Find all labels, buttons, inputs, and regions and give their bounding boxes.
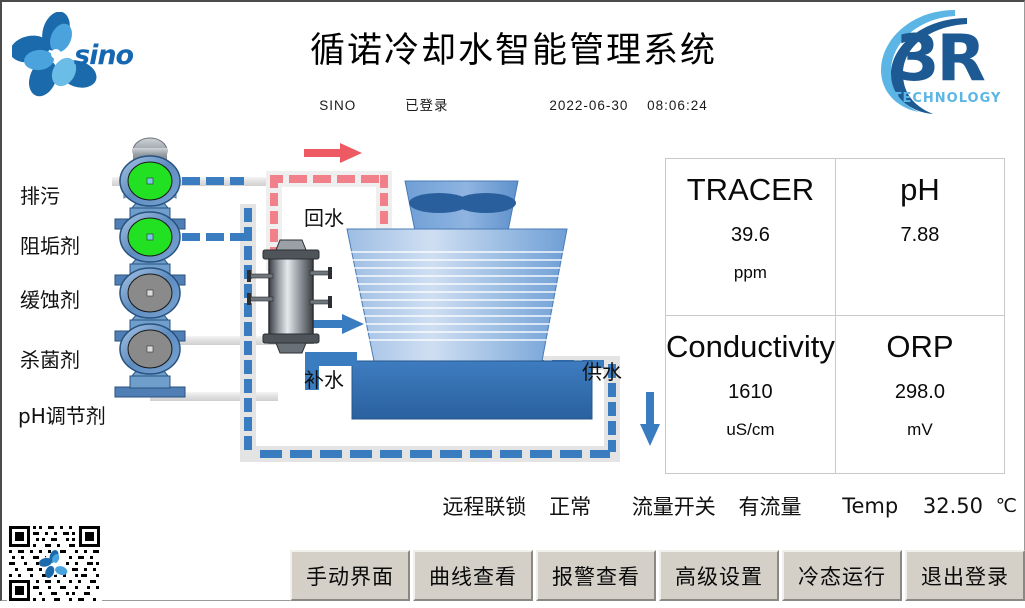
label-supply-water: 供水 bbox=[582, 356, 622, 385]
measurement-card-conductivity[interactable]: Conductivity 1610 uS/cm bbox=[666, 316, 836, 473]
svg-text:3R: 3R bbox=[895, 22, 985, 96]
measurement-value: 7.88 bbox=[900, 224, 939, 247]
application-window: sino 循诺冷却水智能管理系统 SINO 已登录 2022-06-30 08:… bbox=[0, 0, 1025, 601]
measurement-name: TRACER bbox=[687, 171, 814, 210]
curve-view-button[interactable]: 曲线查看 bbox=[413, 550, 533, 601]
status-bar: 远程联锁 正常 流量开关 有流量 Temp 32.50 ℃ bbox=[2, 491, 1017, 521]
measurement-unit: mV bbox=[907, 420, 933, 440]
dosing-pump-ph-adjuster[interactable] bbox=[115, 324, 185, 397]
label-makeup-water: 补水 bbox=[304, 364, 344, 393]
partner-logo-3r: 3R TECHNOLOGY bbox=[863, 4, 1015, 116]
measurement-card-tracer[interactable]: TRACER 39.6 ppm bbox=[666, 159, 836, 316]
measurement-name: ORP bbox=[886, 328, 953, 367]
supply-flow-arrow-icon bbox=[640, 392, 660, 446]
temperature-value: 32.50 bbox=[923, 494, 983, 518]
alarm-view-button[interactable]: 报警查看 bbox=[536, 550, 656, 601]
measurement-unit: uS/cm bbox=[726, 420, 774, 440]
measurement-card-orp[interactable]: ORP 298.0 mV bbox=[836, 316, 1004, 473]
measurement-unit: ppm bbox=[734, 263, 767, 283]
makeup-flow-arrow-icon bbox=[308, 314, 364, 334]
dosing-line-active bbox=[182, 177, 244, 241]
remote-interlock-label: 远程联锁 bbox=[442, 491, 526, 521]
temperature-unit: ℃ bbox=[996, 495, 1017, 517]
temperature-label: Temp bbox=[842, 494, 898, 518]
flow-switch-value: 有流量 bbox=[739, 491, 802, 521]
logout-button[interactable]: 退出登录 bbox=[905, 550, 1025, 601]
system-date: 2022-06-30 bbox=[549, 98, 628, 113]
user-name: SINO bbox=[319, 98, 356, 113]
qr-code-icon[interactable] bbox=[7, 524, 102, 603]
measurement-value: 1610 bbox=[728, 381, 773, 404]
process-diagram: 回水 补水 供水 bbox=[2, 124, 662, 484]
button-bar: 手动界面 曲线查看 报警查看 高级设置 冷态运行 退出登录 bbox=[290, 550, 1025, 601]
remote-interlock-value: 正常 bbox=[549, 491, 591, 521]
measurement-card-ph[interactable]: pH 7.88 bbox=[836, 159, 1004, 316]
cold-start-run-button[interactable]: 冷态运行 bbox=[782, 550, 902, 601]
measurement-value: 39.6 bbox=[731, 224, 770, 247]
svg-text:TECHNOLOGY: TECHNOLOGY bbox=[893, 91, 1002, 106]
measurement-name: pH bbox=[900, 171, 940, 210]
header: sino 循诺冷却水智能管理系统 SINO 已登录 2022-06-30 08:… bbox=[2, 2, 1025, 124]
measurement-name: Conductivity bbox=[666, 328, 835, 367]
advanced-settings-button[interactable]: 高级设置 bbox=[659, 550, 779, 601]
measurement-panel: TRACER 39.6 ppm pH 7.88 Conductivity 161… bbox=[665, 158, 1005, 474]
flow-switch-label: 流量开关 bbox=[632, 491, 716, 521]
system-time: 08:06:24 bbox=[647, 98, 708, 113]
label-return-water: 回水 bbox=[304, 202, 344, 231]
return-flow-arrow-icon bbox=[304, 143, 362, 163]
manual-interface-button[interactable]: 手动界面 bbox=[290, 550, 410, 601]
measurement-value: 298.0 bbox=[895, 381, 945, 404]
login-status: 已登录 bbox=[405, 94, 449, 114]
